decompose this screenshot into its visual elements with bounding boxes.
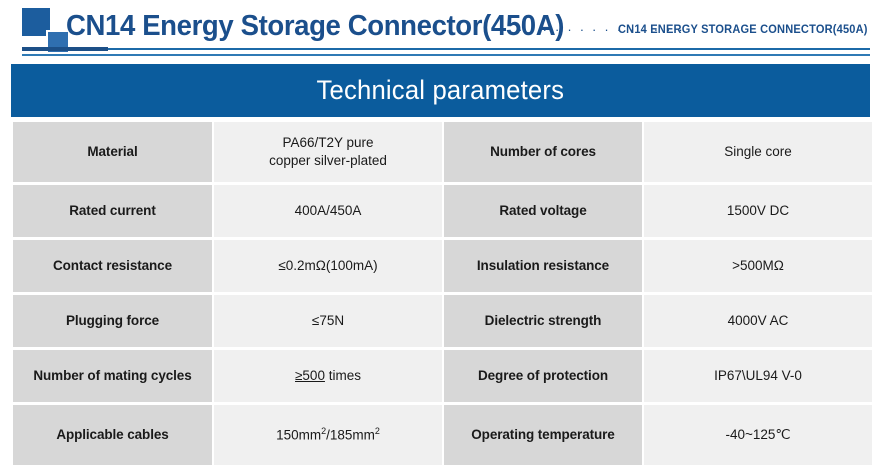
param-label-operating-temperature: Operating temperature: [444, 405, 642, 465]
param-label-applicable-cables: Applicable cables: [13, 405, 212, 465]
param-value-mating-cycles: ≥500 times: [214, 350, 442, 402]
param-value-applicable-cables: 150mm2/185mm2: [214, 405, 442, 465]
cable-size-2-exponent: 2: [375, 426, 380, 436]
param-label-insulation-resistance: Insulation resistance: [444, 240, 642, 292]
param-value-mating-cycles-unit: times: [325, 368, 361, 383]
param-label-dielectric-strength: Dielectric strength: [444, 295, 642, 347]
cable-size-1: 150mm: [276, 428, 321, 443]
param-label-contact-resistance: Contact resistance: [13, 240, 212, 292]
table-row: Applicable cables 150mm2/185mm2 Operatin…: [13, 405, 872, 465]
param-value-material-line2: copper silver-plated: [220, 152, 436, 170]
param-label-rated-voltage: Rated voltage: [444, 185, 642, 237]
header-rule-thick: [22, 47, 108, 51]
param-value-material: PA66/T2Y pure copper silver-plated: [214, 122, 442, 182]
table-row: Rated current 400A/450A Rated voltage 15…: [13, 185, 872, 237]
page-header: CN14 Energy Storage Connector(450A) · · …: [0, 0, 881, 62]
param-value-rated-current: 400A/450A: [214, 185, 442, 237]
section-banner-title: Technical parameters: [317, 75, 565, 106]
header-rule-thin-upper: [108, 48, 870, 50]
param-label-degree-of-protection: Degree of protection: [444, 350, 642, 402]
param-label-number-of-cores: Number of cores: [444, 122, 642, 182]
document-page: CN14 Energy Storage Connector(450A) · · …: [0, 0, 881, 451]
technical-parameters-table: Material PA66/T2Y pure copper silver-pla…: [11, 119, 874, 468]
param-label-plugging-force: Plugging force: [13, 295, 212, 347]
table-row: Plugging force ≤75N Dielectric strength …: [13, 295, 872, 347]
param-value-number-of-cores: Single core: [644, 122, 872, 182]
page-title: CN14 Energy Storage Connector(450A): [66, 10, 564, 43]
page-subtitle: CN14 ENERGY STORAGE CONNECTOR(450A): [618, 24, 868, 36]
param-value-dielectric-strength: 4000V AC: [644, 295, 872, 347]
param-label-material: Material: [13, 122, 212, 182]
param-value-contact-resistance: ≤0.2mΩ(100mA): [214, 240, 442, 292]
table-row: Number of mating cycles ≥500 times Degre…: [13, 350, 872, 402]
param-value-mating-cycles-count: ≥500: [295, 368, 325, 383]
param-value-operating-temperature: -40~125℃: [644, 405, 872, 465]
table-row: Material PA66/T2Y pure copper silver-pla…: [13, 122, 872, 182]
cable-size-2: /185mm: [326, 428, 375, 443]
param-label-mating-cycles: Number of mating cycles: [13, 350, 212, 402]
param-value-material-line1: PA66/T2Y pure: [220, 134, 436, 152]
table-row: Contact resistance ≤0.2mΩ(100mA) Insulat…: [13, 240, 872, 292]
header-rule-thin-lower: [22, 54, 870, 56]
param-value-plugging-force: ≤75N: [214, 295, 442, 347]
param-value-rated-voltage: 1500V DC: [644, 185, 872, 237]
param-value-degree-of-protection: IP67\UL94 V-0: [644, 350, 872, 402]
param-value-insulation-resistance: >500MΩ: [644, 240, 872, 292]
section-banner: Technical parameters: [11, 64, 870, 117]
param-label-rated-current: Rated current: [13, 185, 212, 237]
